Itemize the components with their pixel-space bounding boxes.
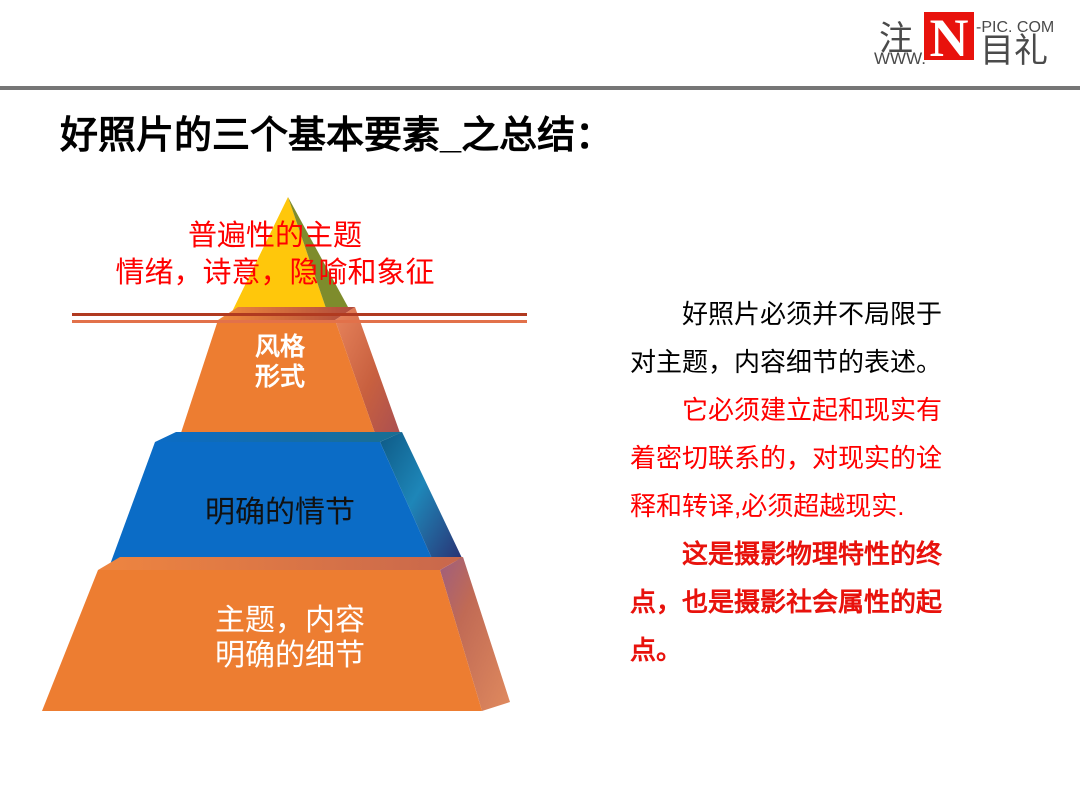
- tier3-front-face: [42, 570, 482, 711]
- summary-line: 这是摄影物理特性的终: [630, 530, 1030, 578]
- summary-line: 好照片必须并不局限于: [630, 290, 1030, 338]
- summary-line: 点，也是摄影社会属性的起: [630, 578, 1030, 626]
- summary-line: 它必须建立起和现实有: [630, 386, 1030, 434]
- summary-line: 释和转译,必须超越现实.: [630, 482, 1030, 530]
- pyramid-tier-style-form: [178, 307, 400, 442]
- apex-caption: 普遍性的主题 情绪，诗意，隐喻和象征: [40, 218, 510, 292]
- tier2-front-face: [108, 442, 437, 570]
- logo-n-letter: N: [930, 8, 969, 68]
- separator-double-line: [72, 313, 527, 325]
- tier2-top-face: [155, 432, 402, 442]
- summary-line: 点。: [630, 626, 1030, 674]
- separator-line-top: [72, 313, 527, 316]
- header-divider: [0, 86, 1080, 90]
- summary-line: 着密切联系的，对现实的诠: [630, 434, 1030, 482]
- site-logo: N 注 目礼 -PIC. COM WWW.: [866, 6, 1066, 68]
- summary-text-block: 好照片必须并不局限于对主题，内容细节的表述。它必须建立起和现实有着密切联系的，对…: [630, 290, 1030, 674]
- logo-chars-muli: 目礼: [980, 32, 1048, 68]
- summary-line: 对主题，内容细节的表述。: [630, 338, 1030, 386]
- logo-domain-text: -PIC. COM: [976, 19, 1054, 36]
- separator-line-bottom: [72, 320, 527, 323]
- page-title: 好照片的三个基本要素_之总结：: [60, 116, 613, 158]
- tier3-top-face: [98, 557, 463, 570]
- page-header: N 注 目礼 -PIC. COM WWW.: [0, 0, 1080, 88]
- pyramid-tier-clear-plot: [108, 432, 462, 570]
- logo-www-text: WWW.: [874, 49, 926, 68]
- pyramid-tier-subject-content: [42, 557, 510, 711]
